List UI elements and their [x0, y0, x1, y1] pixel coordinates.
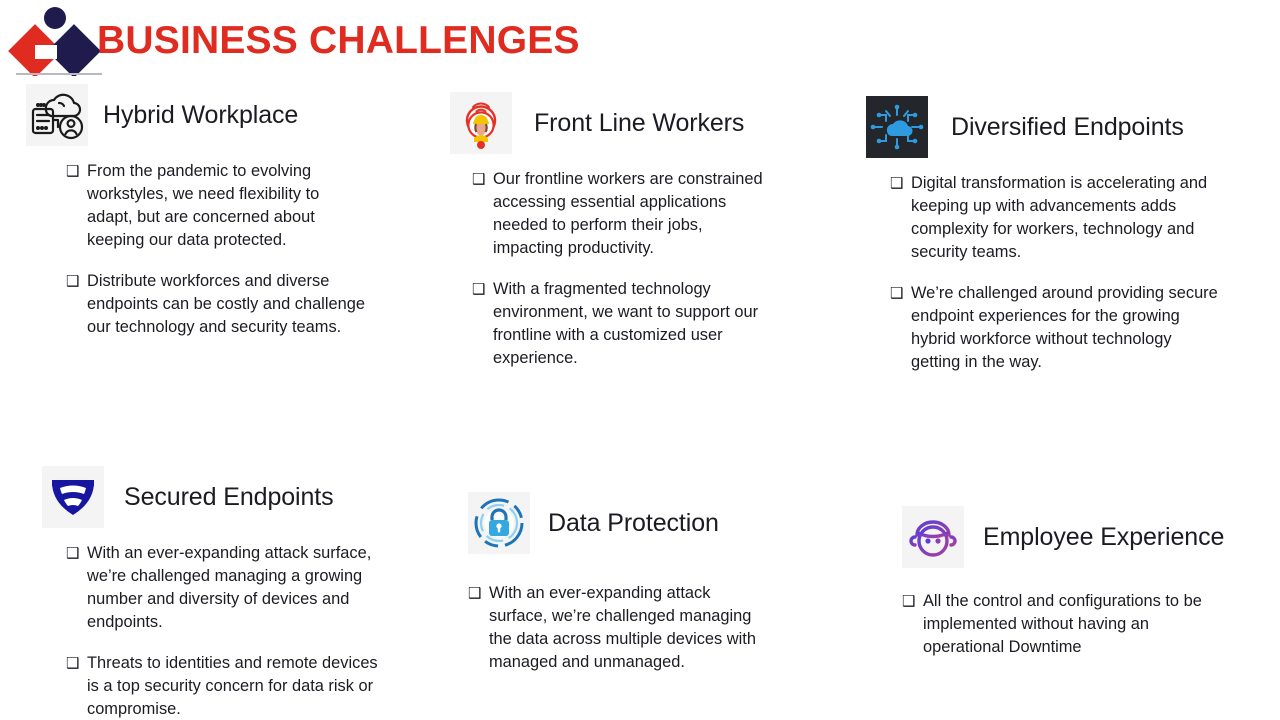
- card-title: Diversified Endpoints: [951, 113, 1184, 142]
- card-title: Front Line Workers: [534, 109, 744, 138]
- bullet-item: ❑ With an ever-expanding attack surface,…: [66, 542, 386, 634]
- bullet-item: ❑ With an ever-expanding attack surface,…: [468, 582, 768, 674]
- bullet-text: From the pandemic to evolving workstyles…: [87, 160, 366, 252]
- bullet-item: ❑ From the pandemic to evolving workstyl…: [66, 160, 366, 252]
- bullet-square-icon: ❑: [66, 270, 87, 293]
- bullet-list: ❑ With an ever-expanding attack surface,…: [66, 542, 386, 720]
- card-header: Employee Experience: [902, 506, 1252, 568]
- bullet-text: Distribute workforces and diverse endpoi…: [87, 270, 366, 339]
- bullet-square-icon: ❑: [472, 278, 493, 301]
- bullet-list: ❑ Digital transformation is accelerating…: [890, 172, 1220, 374]
- bullet-item: ❑ Threats to identities and remote devic…: [66, 652, 386, 720]
- bullet-text: With a fragmented technology environment…: [493, 278, 772, 370]
- card-title: Data Protection: [548, 509, 719, 538]
- bullet-item: ❑ Our frontline workers are constrained …: [472, 168, 772, 260]
- bullet-item: ❑ All the control and configurations to …: [902, 590, 1222, 659]
- card-title: Employee Experience: [983, 523, 1224, 552]
- bullet-text: All the control and configurations to be…: [923, 590, 1222, 659]
- worker-location-pin-icon: [450, 92, 512, 154]
- card-header: Diversified Endpoints: [866, 96, 1226, 158]
- card-hybrid-workplace: Hybrid Workplace ❑ From the pandemic to …: [26, 84, 426, 357]
- cloud-network-nodes-icon: [866, 96, 928, 158]
- card-header: Hybrid Workplace: [26, 84, 426, 146]
- card-secured-endpoints: Secured Endpoints ❑ With an ever-expandi…: [42, 466, 402, 720]
- card-header: Secured Endpoints: [42, 466, 402, 528]
- bullet-text: Our frontline workers are constrained ac…: [493, 168, 772, 260]
- card-header: Data Protection: [468, 492, 798, 554]
- bullet-square-icon: ❑: [468, 582, 489, 605]
- slide-header: BUSINESS CHALLENGES: [0, 0, 1280, 80]
- headset-face-icon: [902, 506, 964, 568]
- bullet-list: ❑ Our frontline workers are constrained …: [472, 168, 772, 370]
- bullet-item: ❑ We’re challenged around providing secu…: [890, 282, 1220, 374]
- bullet-square-icon: ❑: [66, 652, 87, 675]
- bullet-square-icon: ❑: [472, 168, 493, 191]
- bullet-item: ❑ Digital transformation is accelerating…: [890, 172, 1220, 264]
- bullet-list: ❑ All the control and configurations to …: [902, 590, 1222, 659]
- card-data-protection: Data Protection ❑ With an ever-expanding…: [468, 492, 798, 692]
- bullet-item: ❑ With a fragmented technology environme…: [472, 278, 772, 370]
- bullet-list: ❑ With an ever-expanding attack surface,…: [468, 582, 768, 674]
- bullet-text: We’re challenged around providing secure…: [911, 282, 1220, 374]
- bullet-text: Threats to identities and remote devices…: [87, 652, 386, 720]
- bullet-text: With an ever-expanding attack surface, w…: [489, 582, 768, 674]
- card-employee-experience: Employee Experience ❑ All the control an…: [902, 506, 1252, 677]
- bullet-square-icon: ❑: [902, 590, 923, 613]
- card-title: Hybrid Workplace: [103, 101, 298, 130]
- bullet-list: ❑ From the pandemic to evolving workstyl…: [66, 160, 366, 339]
- bullet-text: With an ever-expanding attack surface, w…: [87, 542, 386, 634]
- card-front-line-workers: Front Line Workers ❑ Our frontline worke…: [450, 92, 790, 388]
- bullet-square-icon: ❑: [890, 282, 911, 305]
- card-diversified-endpoints: Diversified Endpoints ❑ Digital transfor…: [866, 96, 1226, 392]
- padlock-circuit-icon: [468, 492, 530, 554]
- card-header: Front Line Workers: [450, 92, 790, 154]
- bullet-item: ❑ Distribute workforces and diverse endp…: [66, 270, 366, 339]
- bullet-text: Digital transformation is accelerating a…: [911, 172, 1220, 264]
- bullet-square-icon: ❑: [890, 172, 911, 195]
- card-title: Secured Endpoints: [124, 483, 334, 512]
- bullet-square-icon: ❑: [66, 542, 87, 565]
- slide-root: BUSINESS CHALLENGES: [0, 0, 1280, 720]
- page-title: BUSINESS CHALLENGES: [97, 19, 580, 63]
- shield-signal-icon: [42, 466, 104, 528]
- company-diamond-logo: [8, 4, 104, 76]
- cloud-server-user-icon: [26, 84, 88, 146]
- bullet-square-icon: ❑: [66, 160, 87, 183]
